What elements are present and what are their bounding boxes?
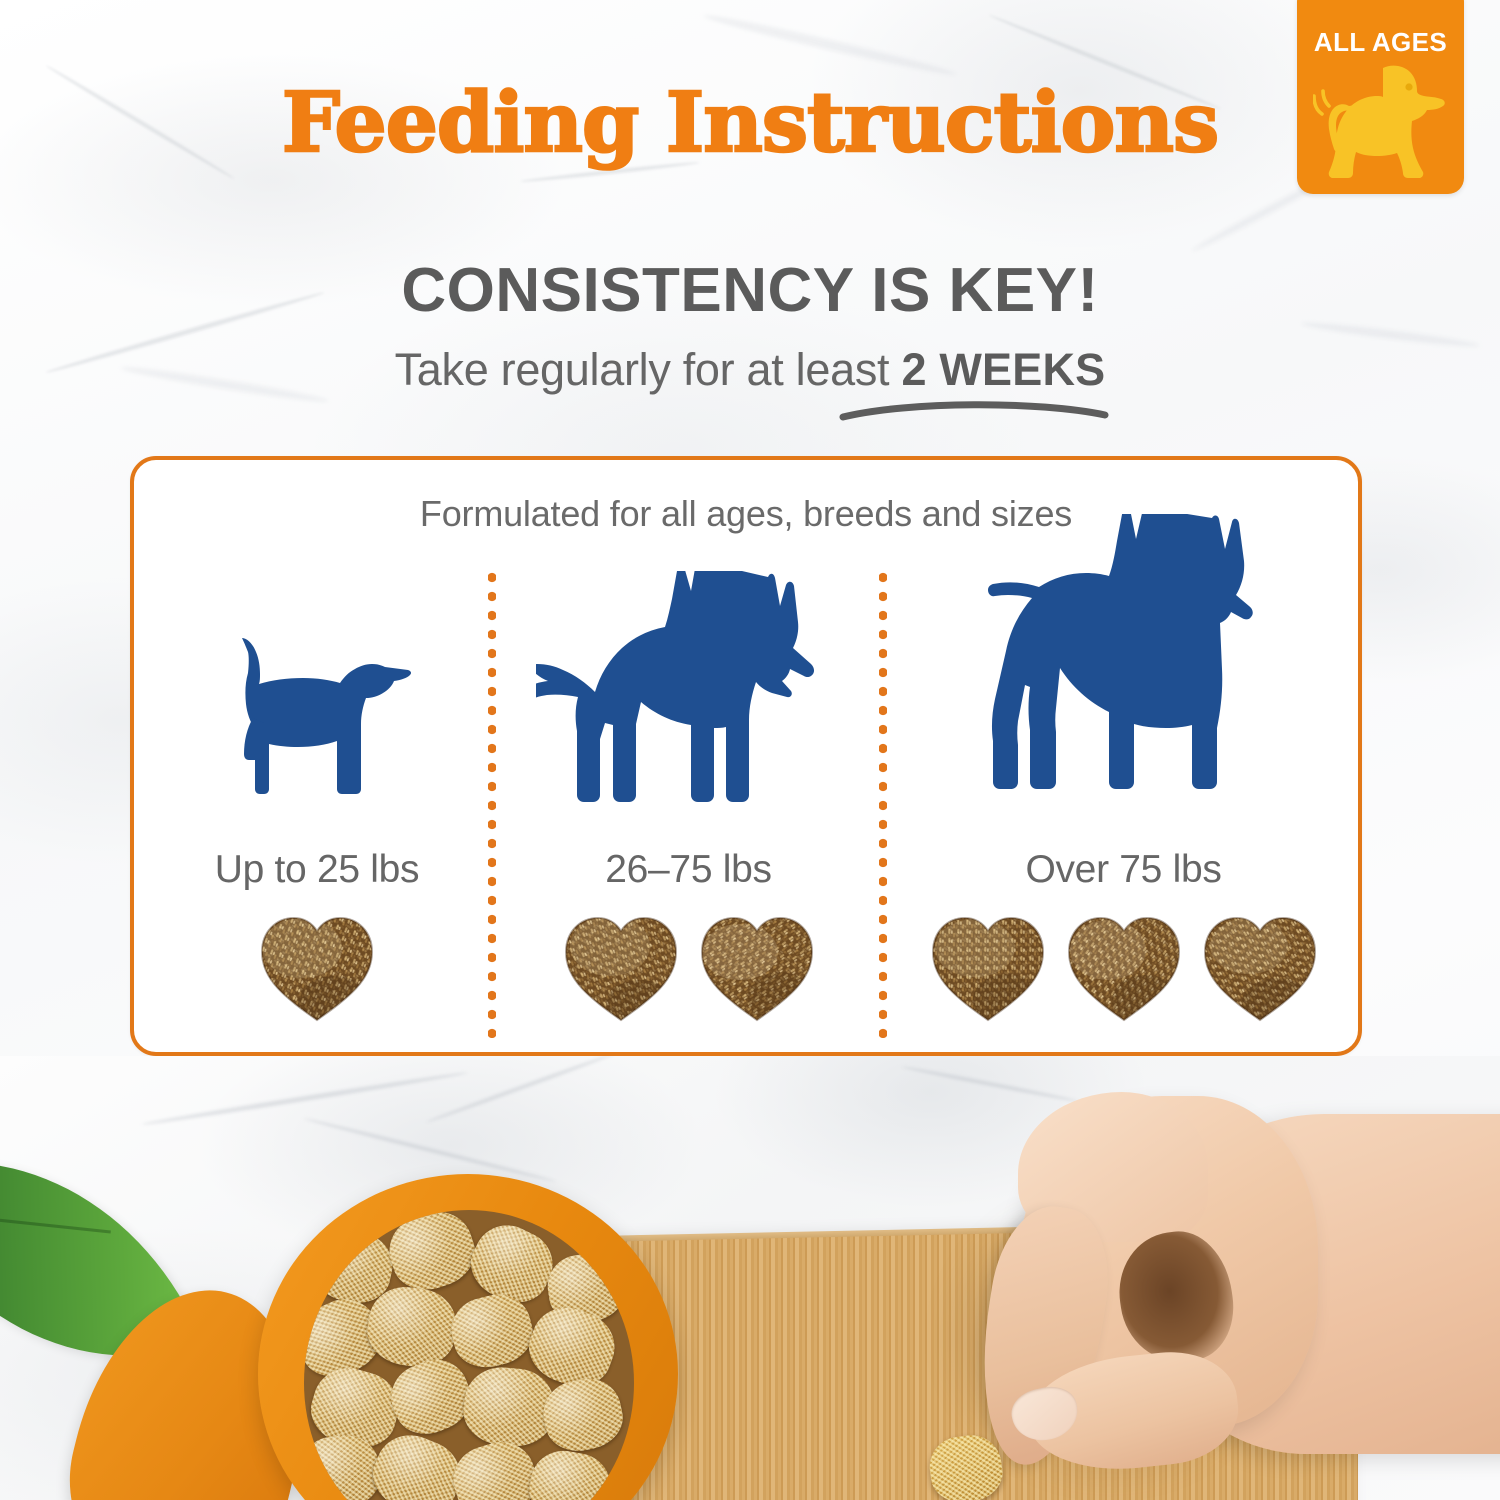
kibble-hearts-large (885, 905, 1362, 1030)
large-dog-icon-wrapper (885, 504, 1362, 804)
kibble-hearts-small (142, 905, 492, 1030)
kibble-heart-icon (256, 910, 378, 1025)
weight-label-small: Up to 25 lbs (142, 848, 492, 892)
product-photo (0, 1056, 1500, 1500)
medium-dog-icon-wrapper (496, 504, 881, 804)
kibble-hearts-medium (496, 905, 881, 1030)
large-dog-icon (969, 514, 1279, 804)
page-title: Feeding Instructions (0, 82, 1500, 164)
size-column-small: Up to 25 lbs (142, 500, 492, 1060)
weight-label-medium: 26–75 lbs (496, 848, 881, 892)
subline-prefix: Take regularly for at least (395, 344, 902, 395)
feeding-guide-card: Formulated for all ages, breeds and size… (130, 456, 1362, 1056)
size-column-medium: 26–75 lbs (496, 500, 881, 1060)
weight-label-large: Over 75 lbs (885, 848, 1362, 892)
small-dog-icon-wrapper (142, 504, 492, 804)
kibble-heart-icon (696, 910, 818, 1025)
subline-wrapper: Take regularly for at least 2 WEEKS (0, 344, 1500, 396)
kibble-heart-icon (560, 910, 682, 1025)
sitting-dog-icon (1313, 56, 1449, 180)
underline-curve-icon (839, 395, 1109, 421)
subline: Take regularly for at least 2 WEEKS (395, 344, 1106, 396)
kibble-heart-icon (1063, 910, 1185, 1025)
subline-emphasis: 2 WEEKS (901, 344, 1105, 395)
kibble-heart-icon (1199, 910, 1321, 1025)
all-ages-badge-label: ALL AGES (1297, 27, 1464, 58)
headline: CONSISTENCY IS KEY! (0, 255, 1500, 326)
kibble-heart-icon (927, 910, 1049, 1025)
small-dog-icon (208, 632, 426, 804)
bowl-kibble-fill (304, 1210, 634, 1500)
all-ages-badge: ALL AGES (1297, 0, 1464, 194)
size-column-large: Over 75 lbs (885, 500, 1362, 1060)
medium-dog-icon (536, 571, 842, 804)
